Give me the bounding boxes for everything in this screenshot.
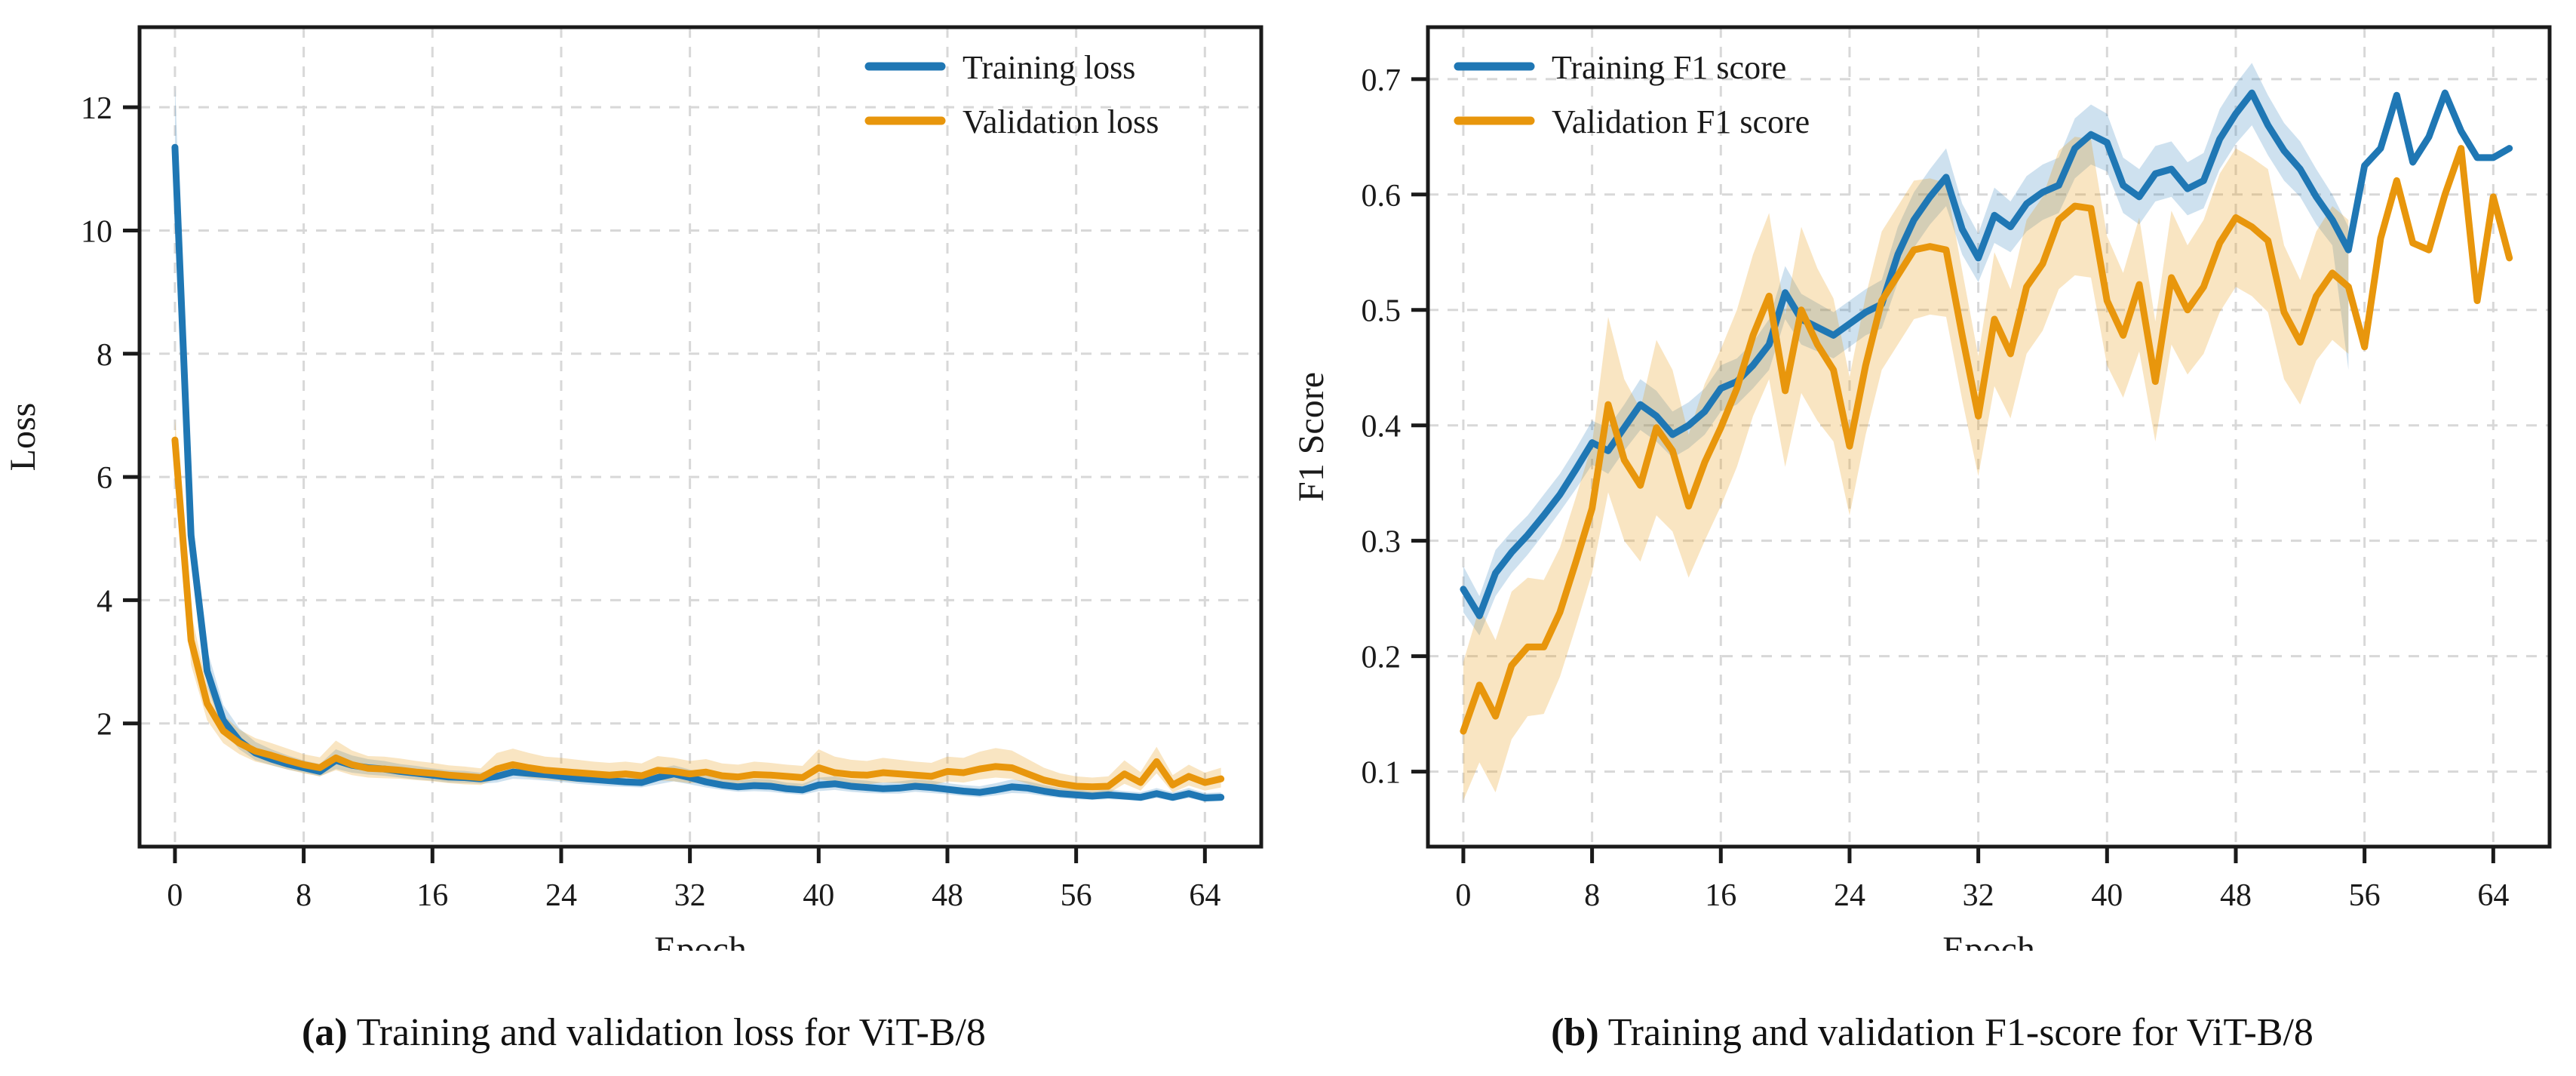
x-axis-title: Epoch [654, 930, 747, 951]
x-tick-label: 8 [1584, 878, 1600, 913]
y-tick-label: 0.7 [1362, 63, 1402, 98]
x-tick-label: 24 [1834, 878, 1865, 913]
figure-container: 081624324048566424681012EpochLossTrainin… [0, 0, 2576, 1076]
legend-label-validation: Validation F1 score [1552, 103, 1810, 140]
y-tick-label: 4 [97, 584, 112, 619]
x-tick-label: 40 [2091, 878, 2123, 913]
legend-label-train: Training F1 score [1552, 49, 1786, 86]
y-tick-label: 10 [81, 214, 112, 249]
y-axis-title: Loss [3, 403, 43, 472]
legend-label-train: Training loss [963, 49, 1135, 86]
y-tick-label: 8 [97, 338, 112, 373]
caption-b: (b) Training and validation F1-score for… [1288, 1010, 2576, 1055]
x-tick-label: 64 [2477, 878, 2509, 913]
y-tick-label: 0.2 [1362, 641, 1402, 675]
y-tick-label: 2 [97, 708, 112, 742]
caption-b-text: Training and validation F1-score for ViT… [1599, 1011, 2313, 1054]
y-tick-label: 0.5 [1362, 294, 1402, 329]
caption-a-marker: (a) [302, 1011, 348, 1054]
legend-label-validation: Validation loss [963, 103, 1159, 140]
x-axis-title: Epoch [1942, 930, 2035, 951]
x-tick-label: 48 [932, 878, 963, 913]
caption-a-text: Training and validation loss for ViT-B/8 [348, 1011, 986, 1054]
y-tick-label: 0.1 [1362, 756, 1402, 791]
x-tick-label: 48 [2220, 878, 2252, 913]
x-tick-label: 40 [803, 878, 834, 913]
x-tick-label: 56 [2349, 878, 2381, 913]
y-tick-label: 0.4 [1362, 410, 1402, 444]
panel-loss-chart: 081624324048566424681012EpochLossTrainin… [0, 0, 1288, 1076]
y-axis-title: F1 Score [1291, 372, 1331, 502]
x-tick-label: 16 [416, 878, 448, 913]
caption-b-marker: (b) [1551, 1011, 1599, 1054]
x-tick-label: 64 [1189, 878, 1220, 913]
plot-area [140, 27, 1261, 847]
x-tick-label: 0 [167, 878, 183, 913]
y-tick-label: 12 [81, 91, 112, 126]
y-tick-label: 0.6 [1362, 179, 1402, 214]
x-tick-label: 8 [296, 878, 312, 913]
caption-a: (a) Training and validation loss for ViT… [0, 1010, 1288, 1055]
x-tick-label: 56 [1061, 878, 1092, 913]
loss-chart-svg: 081624324048566424681012EpochLossTrainin… [0, 0, 1288, 951]
x-tick-label: 32 [1963, 878, 1994, 913]
panel-f1-chart: 08162432404856640.10.20.30.40.50.60.7Epo… [1288, 0, 2576, 1076]
y-tick-label: 0.3 [1362, 525, 1402, 560]
f1-chart-svg: 08162432404856640.10.20.30.40.50.60.7Epo… [1288, 0, 2576, 951]
x-tick-label: 16 [1705, 878, 1736, 913]
x-tick-label: 0 [1455, 878, 1471, 913]
y-tick-label: 6 [97, 461, 112, 496]
x-tick-label: 32 [674, 878, 706, 913]
x-tick-label: 24 [545, 878, 577, 913]
